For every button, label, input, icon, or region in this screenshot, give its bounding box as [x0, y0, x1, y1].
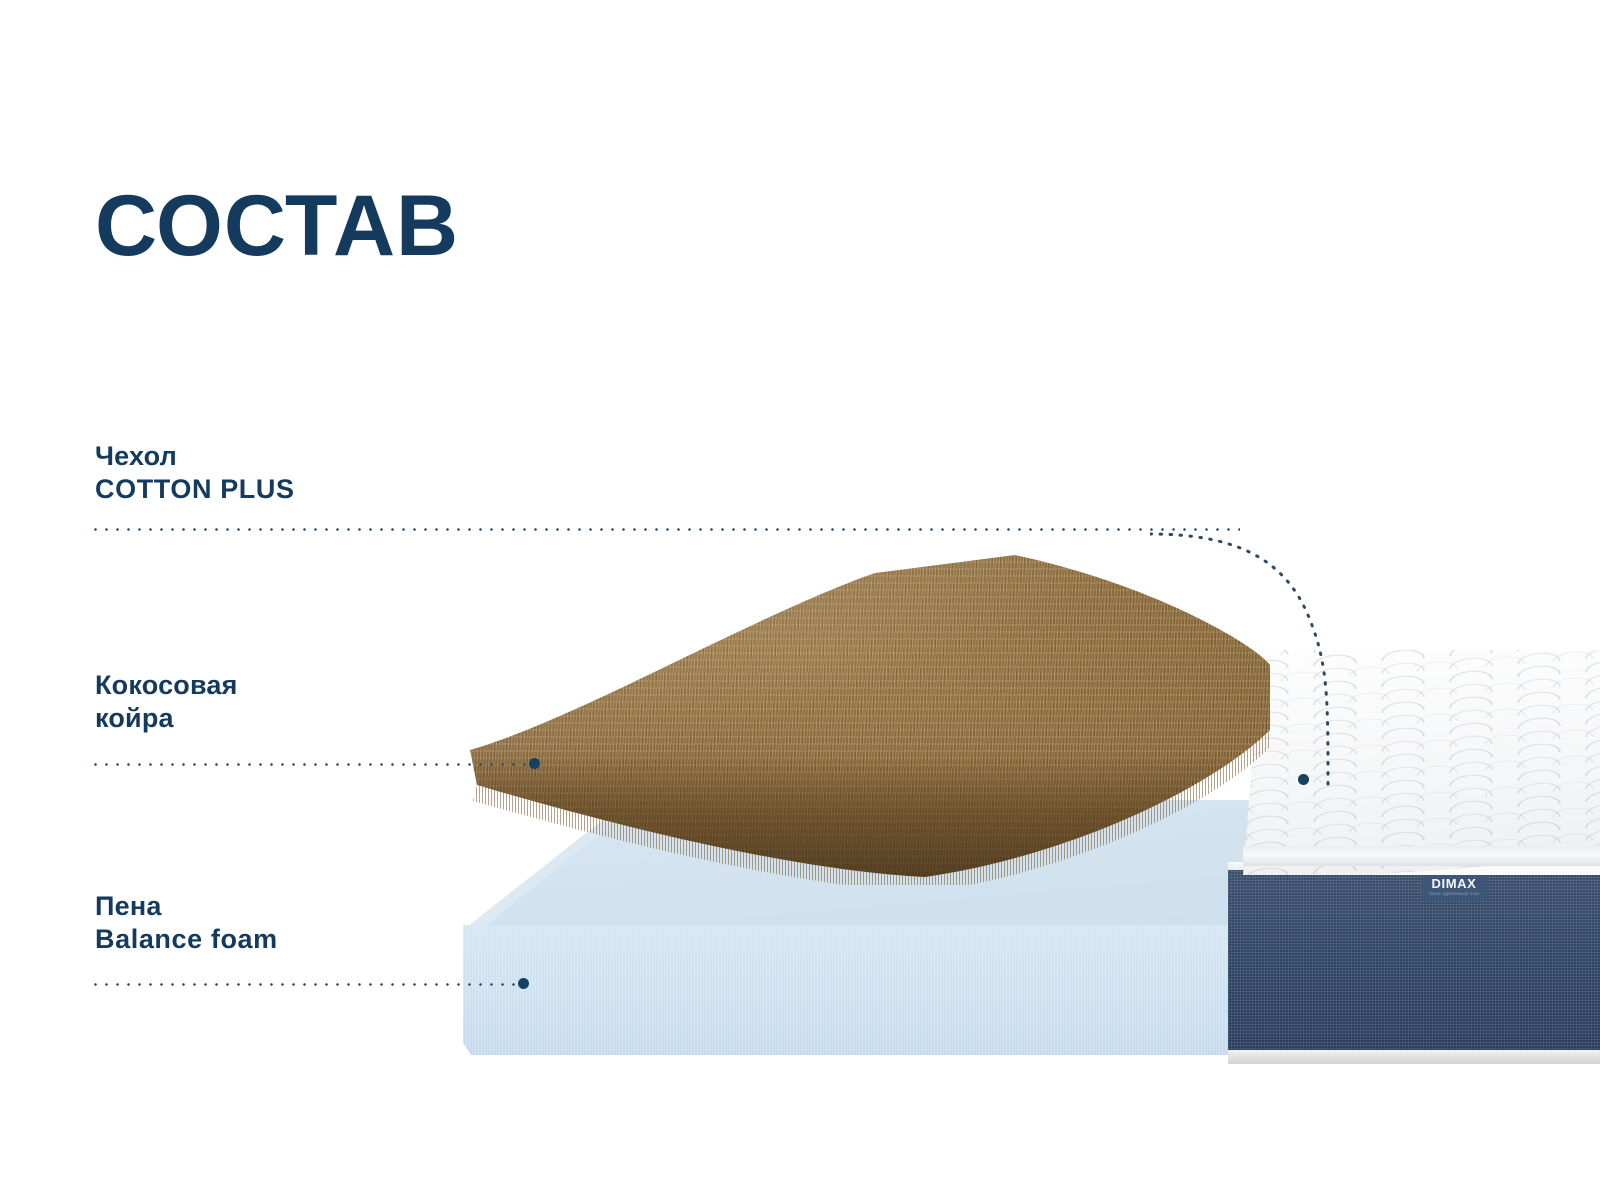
callout-foam-line1: Пена [95, 890, 278, 923]
callout-foam: Пена Balance foam [95, 890, 278, 956]
leader-endpoint-foam [518, 978, 529, 989]
callout-coir-line1: Кокосовая [95, 669, 238, 702]
callout-foam-line2: Balance foam [95, 923, 278, 956]
callout-coir: Кокосовая койра [95, 669, 238, 735]
leader-line-cover [90, 528, 1240, 531]
leader-curve-cover [1150, 500, 1450, 800]
callout-cover: Чехол COTTON PLUS [95, 440, 295, 506]
leader-line-foam [90, 983, 520, 986]
leader-line-coir [90, 763, 530, 766]
callout-coir-line2: койра [95, 702, 238, 735]
composition-infographic: СОСТАВ DIMAX ТВОИ ЗДОРОВЫЙ СОН Чехо [0, 0, 1600, 1201]
cover-layer-front-edge [1243, 846, 1600, 866]
callout-cover-line1: Чехол [95, 440, 295, 473]
side-panel-bottom-piping [1228, 1050, 1600, 1064]
dimax-tagline-text: ТВОИ ЗДОРОВЫЙ СОН [1429, 892, 1480, 896]
leader-endpoint-cover [1298, 774, 1309, 785]
dimax-brand-label: DIMAX ТВОИ ЗДОРОВЫЙ СОН [1421, 872, 1487, 900]
callout-cover-line2: COTTON PLUS [95, 473, 295, 506]
dimax-brand-text: DIMAX [1432, 877, 1477, 890]
side-panel-navy-fabric [1228, 870, 1600, 1055]
leader-endpoint-coir [529, 758, 540, 769]
